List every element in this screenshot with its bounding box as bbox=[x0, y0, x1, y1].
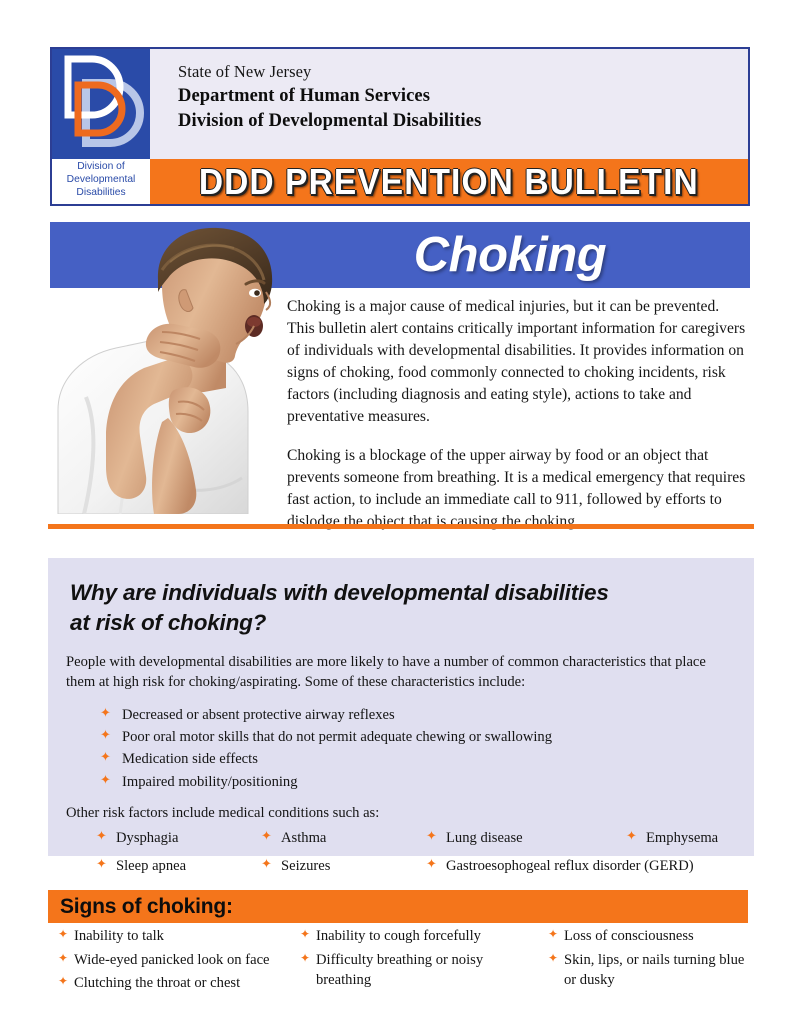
state-line: State of New Jersey bbox=[178, 61, 748, 84]
diamond-bullet-icon: ✦ bbox=[300, 950, 310, 967]
risk-factor-label: Gastroesophogeal reflux disorder (GERD) bbox=[446, 858, 694, 874]
diamond-bullet-icon: ✦ bbox=[548, 950, 558, 967]
risk-heading-line-1: Why are individuals with developmental d… bbox=[70, 578, 714, 608]
risk-factor-item: ✦Emphysema bbox=[626, 828, 744, 849]
hero-text: Choking is a major cause of medical inju… bbox=[287, 296, 750, 550]
diamond-bullet-icon: ✦ bbox=[626, 827, 637, 846]
diamond-bullet-icon: ✦ bbox=[548, 926, 558, 943]
list-item: ✦Inability to cough forcefully bbox=[300, 926, 540, 947]
choking-title-band: Choking bbox=[270, 222, 750, 288]
diamond-bullet-icon: ✦ bbox=[58, 926, 68, 943]
diamond-bullet-icon: ✦ bbox=[261, 827, 272, 846]
header-bottom-row: Division of Developmental Disabilities D… bbox=[52, 159, 748, 204]
signs-bar-label: Signs of choking: bbox=[48, 895, 233, 919]
logo-caption-line1: Division of bbox=[52, 160, 150, 173]
diamond-bullet-icon: ✦ bbox=[100, 770, 111, 790]
man-clutching-throat-photo bbox=[50, 222, 282, 514]
diamond-bullet-icon: ✦ bbox=[100, 703, 111, 723]
characteristic-label: Impaired mobility/positioning bbox=[122, 774, 298, 790]
sign-label: Skin, lips, or nails turning blue or dus… bbox=[564, 952, 744, 989]
list-item: ✦Medication side effects bbox=[100, 748, 754, 770]
risk-factor-label: Sleep apnea bbox=[116, 858, 186, 874]
risk-factors-panel: Why are individuals with developmental d… bbox=[48, 558, 754, 856]
list-item: ✦Poor oral motor skills that do not perm… bbox=[100, 726, 754, 748]
bulletin-banner: DDD PREVENTION BULLETIN bbox=[150, 159, 748, 204]
diamond-bullet-icon: ✦ bbox=[96, 855, 107, 874]
logo-caption: Division of Developmental Disabilities bbox=[52, 159, 150, 204]
risk-factor-label: Lung disease bbox=[446, 830, 523, 846]
risk-heading-line-2: at risk of choking? bbox=[70, 608, 714, 638]
diamond-bullet-icon: ✦ bbox=[100, 725, 111, 745]
choking-man-illustration bbox=[50, 222, 282, 514]
risk-factor-label: Seizures bbox=[281, 858, 330, 874]
hero-paragraph-2: Choking is a blockage of the upper airwa… bbox=[287, 445, 750, 533]
characteristic-label: Decreased or absent protective airway re… bbox=[122, 707, 395, 723]
ddd-logo bbox=[52, 49, 150, 159]
logo-caption-line3: Disabilities bbox=[52, 186, 150, 199]
sign-label: Wide-eyed panicked look on face bbox=[74, 952, 270, 968]
characteristic-label: Medication side effects bbox=[122, 751, 258, 767]
characteristics-list: ✦Decreased or absent protective airway r… bbox=[48, 704, 754, 793]
list-item: ✦Inability to talk bbox=[58, 926, 292, 947]
signs-of-choking-grid: ✦Inability to talk ✦Wide-eyed panicked l… bbox=[58, 926, 758, 997]
sign-label: Inability to cough forcefully bbox=[316, 928, 481, 944]
risk-factor-item: ✦Gastroesophogeal reflux disorder (GERD) bbox=[426, 856, 744, 877]
diamond-bullet-icon: ✦ bbox=[261, 855, 272, 874]
list-item: ✦Clutching the throat or chest bbox=[58, 973, 292, 994]
logo-caption-line2: Developmental bbox=[52, 173, 150, 186]
ddd-logo-icon bbox=[52, 49, 150, 159]
risk-factor-label: Asthma bbox=[281, 830, 326, 846]
department-line: Department of Human Services bbox=[178, 84, 748, 109]
list-item: ✦Impaired mobility/positioning bbox=[100, 771, 754, 793]
sign-label: Loss of consciousness bbox=[564, 928, 694, 944]
risk-panel-intro: People with developmental disabilities a… bbox=[48, 637, 754, 693]
bulletin-page: State of New Jersey Department of Human … bbox=[0, 0, 800, 1035]
list-item: ✦Difficulty breathing or noisy breathing bbox=[300, 950, 540, 991]
bulletin-banner-title: DDD PREVENTION BULLETIN bbox=[199, 161, 699, 203]
diamond-bullet-icon: ✦ bbox=[300, 926, 310, 943]
list-item: ✦Skin, lips, or nails turning blue or du… bbox=[548, 950, 750, 991]
division-line: Division of Developmental Disabilities bbox=[178, 109, 748, 134]
risk-factor-item: ✦Dysphagia bbox=[96, 828, 261, 849]
risk-factor-item: ✦Seizures bbox=[261, 856, 426, 877]
sign-label: Inability to talk bbox=[74, 928, 164, 944]
characteristic-label: Poor oral motor skills that do not permi… bbox=[122, 729, 552, 745]
page-title: Choking bbox=[414, 227, 606, 283]
sign-label: Clutching the throat or chest bbox=[74, 975, 240, 991]
risk-factor-item: ✦Lung disease bbox=[426, 828, 626, 849]
signs-column-3: ✦Loss of consciousness ✦Skin, lips, or n… bbox=[548, 926, 758, 997]
diamond-bullet-icon: ✦ bbox=[426, 827, 437, 846]
signs-column-1: ✦Inability to talk ✦Wide-eyed panicked l… bbox=[58, 926, 300, 997]
signs-of-choking-bar: Signs of choking: bbox=[48, 890, 748, 923]
list-item: ✦Loss of consciousness bbox=[548, 926, 750, 947]
risk-factor-label: Emphysema bbox=[646, 830, 718, 846]
list-item: ✦Decreased or absent protective airway r… bbox=[100, 704, 754, 726]
agency-titles: State of New Jersey Department of Human … bbox=[150, 49, 748, 159]
sign-label: Difficulty breathing or noisy breathing bbox=[316, 952, 483, 989]
signs-column-2: ✦Inability to cough forcefully ✦Difficul… bbox=[300, 926, 548, 997]
diamond-bullet-icon: ✦ bbox=[58, 973, 68, 990]
risk-factor-label: Dysphagia bbox=[116, 830, 178, 846]
other-risk-factors-grid: ✦Dysphagia ✦Asthma ✦Lung disease ✦Emphys… bbox=[48, 828, 754, 877]
hero-paragraph-1: Choking is a major cause of medical inju… bbox=[287, 296, 750, 428]
hero-section: Choking bbox=[50, 222, 750, 530]
other-risk-factors-intro: Other risk factors include medical condi… bbox=[48, 793, 754, 824]
orange-divider bbox=[48, 524, 754, 529]
diamond-bullet-icon: ✦ bbox=[96, 827, 107, 846]
header-block: State of New Jersey Department of Human … bbox=[50, 47, 750, 206]
list-item: ✦Wide-eyed panicked look on face bbox=[58, 950, 292, 971]
risk-factor-item: ✦Sleep apnea bbox=[96, 856, 261, 877]
header-top-row: State of New Jersey Department of Human … bbox=[52, 49, 748, 159]
diamond-bullet-icon: ✦ bbox=[100, 747, 111, 767]
risk-panel-heading: Why are individuals with developmental d… bbox=[48, 558, 754, 637]
diamond-bullet-icon: ✦ bbox=[426, 855, 437, 874]
diamond-bullet-icon: ✦ bbox=[58, 950, 68, 967]
risk-factor-item: ✦Asthma bbox=[261, 828, 426, 849]
